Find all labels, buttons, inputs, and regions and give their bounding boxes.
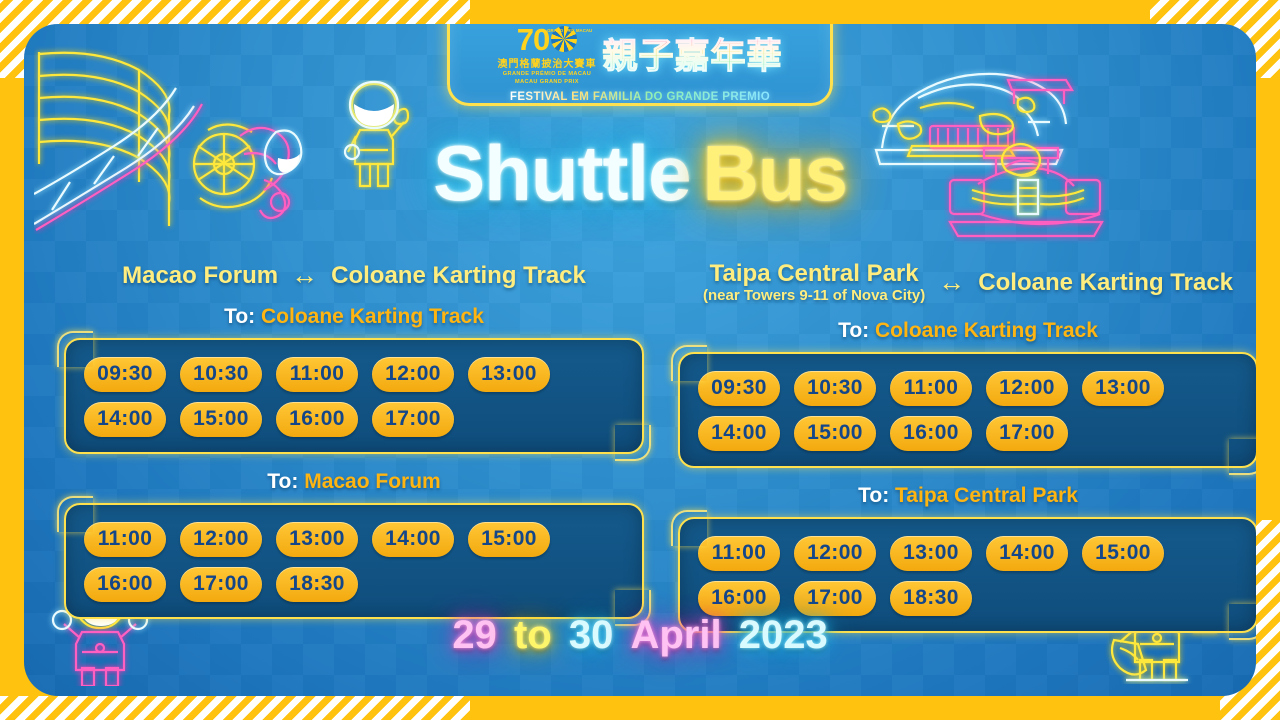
time-pill[interactable]: 17:00 [180,567,262,602]
route-terminus: Coloane Karting Track [331,264,586,288]
time-pill[interactable]: 14:00 [698,416,780,451]
time-pill[interactable]: 09:30 [698,371,780,406]
time-pill[interactable]: 11:00 [890,371,972,406]
time-pill[interactable]: 12:00 [794,536,876,571]
time-pill[interactable]: 15:00 [1082,536,1164,571]
time-list: 11:00 12:00 13:00 14:00 15:00 16:00 17:0… [84,522,624,602]
title-word-shuttle: Shuttle [433,128,690,219]
grand-prix-roundel-icon: GRAND PRIX MACAU [551,26,577,52]
destination-name: Macao Forum [304,470,441,493]
schedule-destination: To: Macao Forum [64,470,644,494]
event-subtitle: FESTIVAL EM FAMÍLIA DO GRANDE PRÉMIO [510,91,770,103]
time-pill[interactable]: 12:00 [372,357,454,392]
route-taipa-central-park: Taipa Central Park (near Towers 9-11 of … [678,262,1256,633]
title-word-bus: Bus [702,128,846,219]
event-chinese-title: 親子嘉年華 [602,39,782,74]
timetable-panel: 09:30 10:30 11:00 12:00 13:00 14:00 15:0… [678,352,1256,468]
time-pill[interactable]: 10:30 [180,357,262,392]
time-pill[interactable]: 17:00 [986,416,1068,451]
destination-name: Coloane Karting Track [875,319,1098,342]
time-pill[interactable]: 18:30 [276,567,358,602]
date-day-to: 30 [569,613,614,658]
shuttle-bus-poster: 70 GRAND PRIX MACAU 澳門格蘭披治大賽車 GRANDE PRÉ… [0,0,1280,720]
destination-name: Taipa Central Park [895,484,1078,507]
time-list: 09:30 10:30 11:00 12:00 13:00 14:00 15:0… [84,357,624,437]
time-pill[interactable]: 10:30 [794,371,876,406]
time-pill[interactable]: 12:00 [986,371,1068,406]
time-pill[interactable]: 09:30 [84,357,166,392]
time-pill[interactable]: 16:00 [698,581,780,616]
bidirectional-arrow-icon: ↔ [938,269,965,296]
to-label: To: [858,484,889,507]
time-pill[interactable]: 11:00 [84,522,166,557]
route-heading: Taipa Central Park (near Towers 9-11 of … [678,262,1256,303]
timetable-panel: 09:30 10:30 11:00 12:00 13:00 14:00 15:0… [64,338,644,454]
time-pill[interactable]: 15:00 [180,402,262,437]
date-month: April [630,613,721,658]
poster-stage: 70 GRAND PRIX MACAU 澳門格蘭披治大賽車 GRANDE PRÉ… [24,24,1256,696]
schedule-destination: To: Taipa Central Park [678,484,1256,508]
timetable-panel: 11:00 12:00 13:00 14:00 15:00 16:00 17:0… [64,503,644,619]
event-date: 29 to 30 April 2023 [24,613,1256,658]
roundel-label: GRAND PRIX MACAU [547,28,592,34]
time-pill[interactable]: 11:00 [698,536,780,571]
route-terminus: Coloane Karting Track [978,271,1233,295]
stripe-corner-bottom [0,696,470,720]
time-pill[interactable]: 16:00 [890,416,972,451]
bidirectional-arrow-icon: ↔ [291,262,318,289]
to-label: To: [267,470,298,493]
logo-portuguese-title: GRANDE PRÉMIO DE MACAU [503,70,591,78]
page-title: ShuttleBus [24,128,1256,219]
time-list: 11:00 12:00 13:00 14:00 15:00 16:00 17:0… [698,536,1238,616]
time-pill[interactable]: 13:00 [276,522,358,557]
to-label: To: [838,319,869,342]
logo-chinese-title: 澳門格蘭披治大賽車 [497,55,596,70]
time-pill[interactable]: 13:00 [468,357,550,392]
time-pill[interactable]: 14:00 [986,536,1068,571]
time-pill[interactable]: 11:00 [276,357,358,392]
time-pill[interactable]: 13:00 [890,536,972,571]
time-pill[interactable]: 14:00 [84,402,166,437]
time-pill[interactable]: 16:00 [276,402,358,437]
date-day-from: 29 [452,613,497,658]
logo-english-title: MACAU GRAND PRIX [515,78,579,86]
route-macao-forum: Macao Forum ↔ Coloane Karting Track To: … [64,262,644,619]
schedule-destination: To: Coloane Karting Track [64,305,644,329]
time-pill[interactable]: 17:00 [372,402,454,437]
time-pill[interactable]: 14:00 [372,522,454,557]
time-pill[interactable]: 18:30 [890,581,972,616]
time-pill[interactable]: 15:00 [468,522,550,557]
route-origin: Macao Forum [122,264,278,288]
route-heading: Macao Forum ↔ Coloane Karting Track [64,262,644,289]
time-pill[interactable]: 16:00 [84,567,166,602]
anniversary-number: 70 [517,26,549,54]
schedule-destination: To: Coloane Karting Track [678,319,1256,343]
destination-name: Coloane Karting Track [261,305,484,328]
route-origin: Taipa Central Park [710,262,919,286]
grand-prix-logo-banner: 70 GRAND PRIX MACAU 澳門格蘭披治大賽車 GRANDE PRÉ… [447,24,833,106]
time-pill[interactable]: 13:00 [1082,371,1164,406]
time-list: 09:30 10:30 11:00 12:00 13:00 14:00 15:0… [698,371,1238,451]
time-pill[interactable]: 15:00 [794,416,876,451]
date-connector: to [514,613,552,658]
time-pill[interactable]: 17:00 [794,581,876,616]
to-label: To: [224,305,255,328]
route-origin-note: (near Towers 9-11 of Nova City) [703,288,925,303]
time-pill[interactable]: 12:00 [180,522,262,557]
date-year: 2023 [739,613,828,658]
